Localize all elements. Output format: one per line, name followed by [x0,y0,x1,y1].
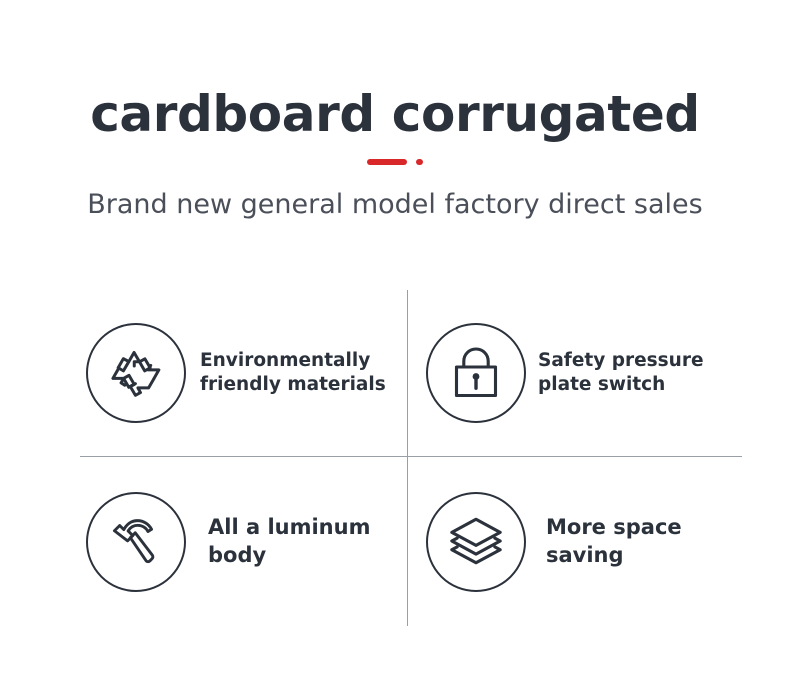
feature-item-more-space-saving: More space saving [408,457,742,626]
feature-label: All a luminum body [208,514,398,569]
recycle-icon [86,323,186,423]
divider-dot-icon [416,159,423,165]
title-accent-divider [0,156,790,168]
divider-dash-icon [367,159,407,165]
feature-item-environmentally-friendly: Environmentally friendly materials [80,290,407,456]
feature-label: More space saving [546,514,736,569]
layers-icon [426,492,526,592]
feature-item-all-aluminum-body: All a luminum body [80,457,407,626]
banner-header: cardboard corrugated Brand new general m… [0,0,790,222]
page-subtitle: Brand new general model factory direct s… [0,168,790,222]
feature-grid: Environmentally friendly materials Safet… [80,290,742,626]
hammer-icon [86,492,186,592]
feature-label: Environmentally friendly materials [200,349,390,398]
page-title: cardboard corrugated [0,0,790,144]
feature-item-safety-pressure-plate-switch: Safety pressure plate switch [408,290,742,456]
padlock-icon [426,323,526,423]
feature-label: Safety pressure plate switch [538,349,728,398]
product-feature-banner: cardboard corrugated Brand new general m… [0,0,790,700]
